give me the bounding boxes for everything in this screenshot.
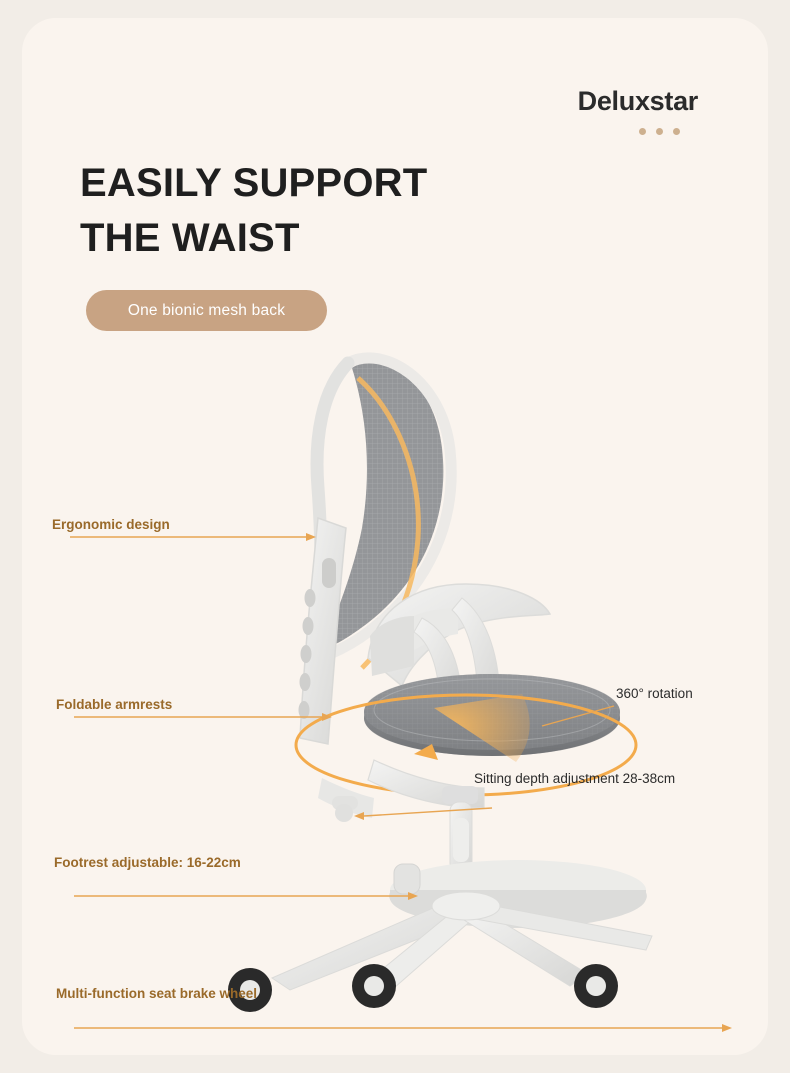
content-card: Deluxstar EASILY SUPPORT THE WAIST One b… xyxy=(22,18,768,1055)
annotation-ergonomic-design: Ergonomic design xyxy=(52,517,170,532)
annotation-sitting-depth: Sitting depth adjustment 28-38cm xyxy=(474,771,675,786)
annotation-footrest: Footrest adjustable: 16-22cm xyxy=(54,855,241,870)
annotation-brake-wheel: Multi-function seat brake wheel xyxy=(56,986,257,1001)
annotation-foldable-armrests: Foldable armrests xyxy=(56,697,172,712)
chair-illustration xyxy=(22,18,768,1055)
gas-cylinder xyxy=(450,802,472,872)
page-root: Deluxstar EASILY SUPPORT THE WAIST One b… xyxy=(0,0,790,1073)
annotation-rotation: 360° rotation xyxy=(616,686,693,701)
